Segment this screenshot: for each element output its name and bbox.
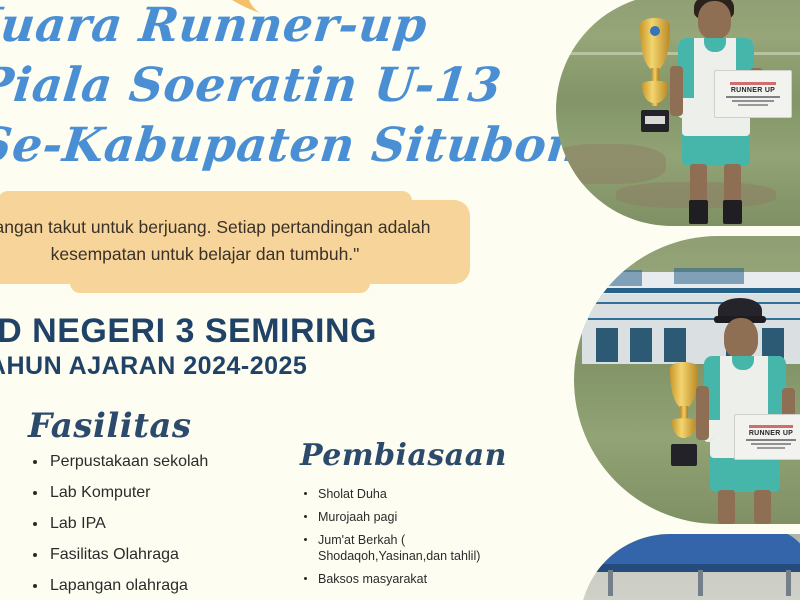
list-item: Murojaah pagi — [300, 509, 515, 525]
pembiasaan-section: Pembiasaan Sholat Duha Murojaah pagi Jum… — [300, 438, 515, 594]
quote-text: "Jangan takut untuk berjuang. Setiap per… — [0, 214, 444, 268]
photo-boy-with-trophy-certificate: RUNNER UP — [556, 0, 800, 226]
fasilitas-section: Fasilitas Perpustakaan sekolah Lab Kompu… — [28, 406, 278, 600]
quote-container: "Jangan takut untuk berjuang. Setiap per… — [0, 200, 470, 284]
school-name: SD NEGERI 3 SEMIRING — [0, 312, 377, 350]
headline-line-3: Se-Kabupaten Situbondo — [0, 116, 581, 176]
photo-covered-court — [580, 534, 800, 600]
list-item: Sholat Duha — [300, 486, 515, 502]
fasilitas-heading: Fasilitas — [28, 406, 278, 446]
list-item: Jum'at Berkah ( Shodaqoh,Yasinan,dan tah… — [300, 532, 515, 564]
list-item: Lapangan olahraga — [28, 576, 278, 596]
school-academic-year: TAHUN AJARAN 2024-2025 — [0, 350, 377, 382]
pembiasaan-heading: Pembiasaan — [300, 438, 515, 474]
headline-line-2: Piala Soeratin U-13 — [0, 56, 581, 116]
headline-title: Juara Runner-up Piala Soeratin U-13 Se-K… — [0, 0, 578, 176]
headline-line-1: Juara Runner-up — [0, 0, 581, 56]
list-item: Lab Komputer — [28, 483, 278, 503]
pembiasaan-list: Sholat Duha Murojaah pagi Jum'at Berkah … — [300, 486, 515, 587]
photo-boy-with-cap-trophy: RUNNER UP — [574, 236, 800, 524]
list-item: Lab IPA — [28, 514, 278, 534]
quote-box: "Jangan takut untuk berjuang. Setiap per… — [0, 200, 470, 284]
list-item: Perpustakaan sekolah — [28, 452, 278, 472]
list-item: Baksos masyarakat — [300, 571, 515, 587]
fasilitas-list: Perpustakaan sekolah Lab Komputer Lab IP… — [28, 452, 278, 600]
school-identity: SD NEGERI 3 SEMIRING TAHUN AJARAN 2024-2… — [0, 312, 377, 382]
poster-canvas: Juara Runner-up Piala Soeratin U-13 Se-K… — [0, 0, 800, 600]
list-item: Fasilitas Olahraga — [28, 545, 278, 565]
